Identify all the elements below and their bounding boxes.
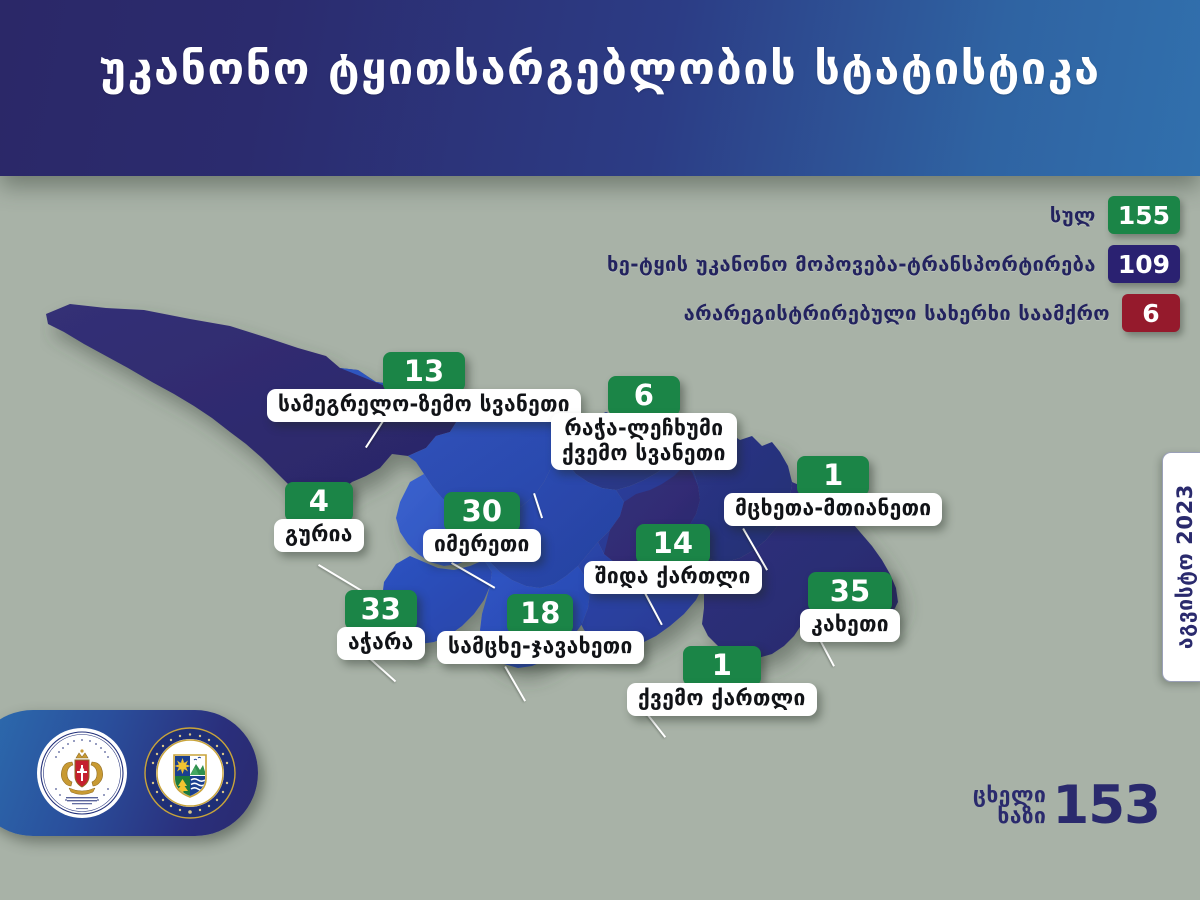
header-banner: უკანონო ტყითსარგებლობის სტატისტიკა: [0, 0, 1200, 176]
callout-shida-kartli[interactable]: 14 შიდა ქართლი: [584, 524, 762, 594]
callout-count: 1: [683, 646, 761, 686]
callout-adjara[interactable]: 33 აჭარა: [337, 590, 425, 660]
callout-name: რაჭა-ლეჩხუმი ქვემო სვანეთი: [551, 413, 737, 469]
page-title: უკანონო ტყითსარგებლობის სტატისტიკა: [0, 46, 1200, 91]
callout-count: 33: [345, 590, 417, 630]
legend-label: არარეგისტრირებული სახერხი საამქრო: [684, 301, 1110, 325]
logo-pill: [0, 710, 258, 836]
legend-badge-total: 155: [1108, 196, 1180, 234]
legend: სულ 155 ხე-ტყის უკანონო მოპოვება-ტრანსპო…: [607, 196, 1180, 332]
callout-name: კახეთი: [800, 609, 900, 641]
legend-badge-sawmill: 6: [1122, 294, 1180, 332]
legend-label: სულ: [1050, 203, 1096, 227]
callout-guria[interactable]: 4 გურია: [274, 482, 364, 552]
callout-name: ქვემო ქართლი: [627, 683, 817, 715]
callout-count: 14: [636, 524, 710, 564]
callout-mtskheta-mtianeti[interactable]: 1 მცხეთა-მთიანეთი: [724, 456, 942, 526]
ministry-emblem-icon: [36, 727, 128, 819]
legend-row: სულ 155: [1050, 196, 1180, 234]
legend-row: ხე-ტყის უკანონო მოპოვება-ტრანსპორტირება …: [607, 245, 1180, 283]
callout-name: სამცხე-ჯავახეთი: [437, 631, 644, 663]
callout-count: 18: [507, 594, 573, 634]
date-tab: აგვისტო 2023: [1162, 452, 1200, 682]
callout-name: მცხეთა-მთიანეთი: [724, 493, 942, 525]
callout-racha-lechkhumi[interactable]: 6 რაჭა-ლეჩხუმი ქვემო სვანეთი: [551, 376, 737, 470]
callout-count: 35: [808, 572, 892, 612]
callout-name: აჭარა: [337, 627, 425, 659]
infographic-page: უკანონო ტყითსარგებლობის სტატისტიკა სულ 1…: [0, 0, 1200, 900]
callout-samegrelo-zemo-svaneti[interactable]: 13 სამეგრელო-ზემო სვანეთი: [267, 352, 581, 422]
department-emblem-icon: [144, 727, 236, 819]
callout-kvemo-kartli[interactable]: 1 ქვემო ქართლი: [627, 646, 817, 716]
callout-name: გურია: [274, 519, 364, 551]
callout-count: 6: [608, 376, 680, 416]
hotline-number: 153: [1052, 782, 1160, 831]
callout-count: 30: [444, 492, 520, 532]
callout-name: სამეგრელო-ზემო სვანეთი: [267, 389, 581, 421]
hotline-label: ცხელი ხაზი: [973, 785, 1047, 827]
callout-count: 13: [383, 352, 465, 392]
callout-count: 4: [285, 482, 353, 522]
callout-imereti[interactable]: 30 იმერეთი: [423, 492, 541, 562]
callout-name: იმერეთი: [423, 529, 541, 561]
legend-row: არარეგისტრირებული სახერხი საამქრო 6: [684, 294, 1180, 332]
callout-samtskhe-javakheti[interactable]: 18 სამცხე-ჯავახეთი: [437, 594, 644, 664]
legend-label: ხე-ტყის უკანონო მოპოვება-ტრანსპორტირება: [607, 252, 1096, 276]
callout-count: 1: [797, 456, 869, 496]
callout-name: შიდა ქართლი: [584, 561, 762, 593]
hotline: ცხელი ხაზი 153: [973, 782, 1160, 831]
callout-kakheti[interactable]: 35 კახეთი: [800, 572, 900, 642]
legend-badge-transport: 109: [1108, 245, 1180, 283]
date-tab-label: აგვისტო 2023: [1173, 484, 1197, 649]
